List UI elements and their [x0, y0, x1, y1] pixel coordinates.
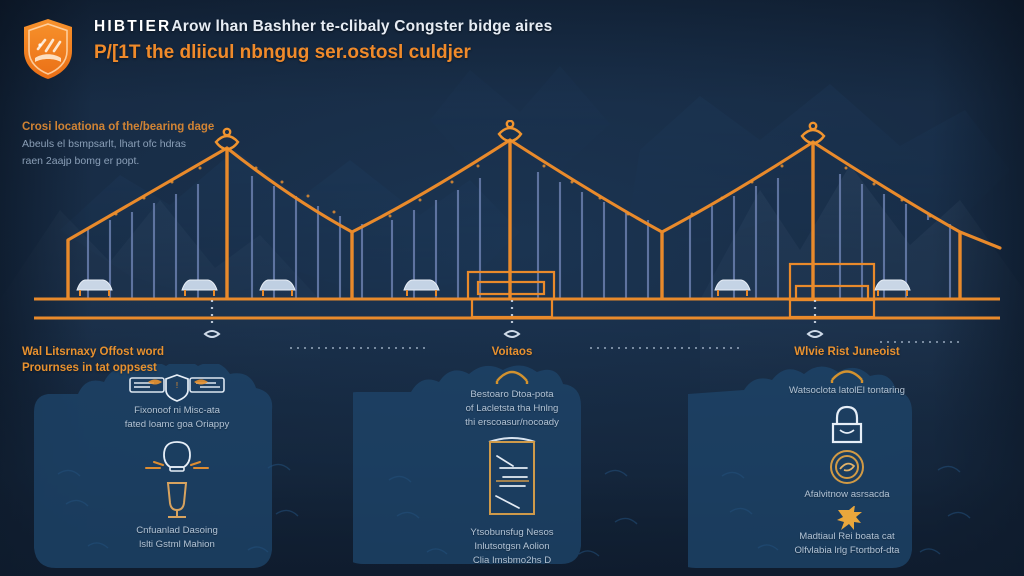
card-left-text-1: Fixonoof ni Misc-ata fated loamc goa Ori…	[18, 404, 336, 432]
badge-shield-icon: !	[166, 375, 188, 401]
card-right-icon-row-4	[688, 506, 1006, 532]
card-middle-text-2-line-2: Inlutsotgsn Aolion	[353, 540, 671, 554]
card-right-text-3-line-1: Madtiaul Rei boata cat	[688, 530, 1006, 544]
title-lead: HIBTIER	[94, 18, 171, 35]
card-right[interactable]: Wlvie Rist Juneoist Watsoclota latolEl t…	[688, 338, 1006, 576]
document-plan-icon	[489, 438, 535, 514]
card-right-icon-row-2	[688, 404, 1006, 450]
ticket-right-icon	[190, 378, 224, 392]
card-middle-body: Bestoaro Dtoa-pota of Lacletsta tha Hnln…	[353, 338, 671, 576]
connector-1-node	[205, 331, 219, 337]
suspender-cables-group	[88, 172, 950, 298]
card-left-icon-row-1: !	[18, 368, 336, 402]
arch-bridge-icon	[832, 372, 862, 384]
card-left-text-2: Cnfuanlad Dasoing lslti Gstml Mahion	[18, 524, 336, 552]
connector-3-node	[808, 331, 822, 337]
car-1	[77, 280, 112, 296]
car-4	[404, 280, 439, 296]
card-left[interactable]: Wal Litsrnaxy Offost word Prournses in t…	[18, 338, 336, 576]
cable-lights-group	[115, 165, 932, 218]
padlock-icon	[833, 407, 861, 442]
title-rest: Arow lhan Bashher te-clibaly Congster bi…	[171, 18, 552, 35]
card-right-body: Watsoclota latolEl tontaring	[688, 338, 1006, 576]
car-5	[715, 280, 750, 296]
car-6	[875, 280, 910, 296]
card-right-text-2: Afalvitnow asrsacda	[688, 488, 1006, 502]
card-left-icon-row-2	[18, 438, 336, 478]
card-middle-icon-row-2	[353, 434, 671, 522]
card-middle-text-2-line-3: Clia Imsbmo2hs D	[353, 554, 671, 568]
cards-row: Wal Litsrnaxy Offost word Prournses in t…	[0, 338, 1024, 576]
ticket-left-icon	[130, 378, 164, 392]
card-right-text-2-line-1: Afalvitnow asrsacda	[688, 488, 1006, 502]
card-right-text-3: Madtiaul Rei boata cat Olfvlabia lrlg Ft…	[688, 530, 1006, 558]
spark-burst-icon	[837, 506, 862, 530]
header: HIBTIERArow lhan Bashher te-clibaly Cong…	[22, 14, 984, 90]
main-cable-group	[68, 140, 1000, 248]
card-middle-text-1: Bestoaro Dtoa-pota of Lacletsta tha Hnln…	[353, 388, 671, 430]
svg-text:!: !	[176, 381, 178, 390]
card-middle-text-1-line-1: Bestoaro Dtoa-pota	[353, 388, 671, 402]
card-right-text-3-line-2: Olfvlabia lrlg Ftortbof-dta	[688, 544, 1006, 558]
card-middle-text-1-line-2: of Lacletsta tha Hnlng	[353, 402, 671, 416]
arch-bridge-icon	[497, 372, 527, 384]
suspension-bridge-diagram	[0, 120, 1024, 330]
card-middle[interactable]: Voitaos Bestoaro Dtoa-pota of Lacletsta …	[353, 338, 671, 576]
page-title: HIBTIERArow lhan Bashher te-clibaly Cong…	[94, 16, 984, 38]
bulb-idea-icon	[164, 442, 190, 471]
card-left-icon-row-3	[18, 480, 336, 524]
card-left-body: ! Fixonoof ni Misc-ata fated loamc goa O…	[18, 338, 336, 576]
trophy-cup-icon	[168, 483, 186, 517]
card-right-text-1-line-1: Watsoclota latolEl tontaring	[688, 384, 1006, 398]
card-right-icon-row-3	[688, 448, 1006, 490]
card-left-text-2-line-1: Cnfuanlad Dasoing	[18, 524, 336, 538]
card-right-icon-row-1	[688, 362, 1006, 384]
infographic-canvas: HIBTIERArow lhan Bashher te-clibaly Cong…	[0, 0, 1024, 576]
card-left-text-2-line-2: lslti Gstml Mahion	[18, 538, 336, 552]
card-middle-icon-row-1	[353, 362, 671, 386]
connector-2-node	[505, 331, 519, 337]
page-subtitle: P/[1T the dliicul nbngug ser.ostosl culd…	[94, 38, 984, 68]
card-middle-text-2-line-1: Ytsobunsfug Nesos	[353, 526, 671, 540]
card-middle-text-1-line-3: thi erscoasur/nocoady	[353, 416, 671, 430]
medal-seal-icon	[831, 451, 863, 483]
card-left-text-1-line-2: fated loamc goa Oriappy	[18, 418, 336, 432]
header-text-group: HIBTIERArow lhan Bashher te-clibaly Cong…	[94, 16, 984, 68]
shield-badge-icon	[22, 18, 74, 80]
card-right-text-1: Watsoclota latolEl tontaring	[688, 384, 1006, 398]
card-middle-text-2: Ytsobunsfug Nesos Inlutsotgsn Aolion Cli…	[353, 526, 671, 568]
car-3	[260, 280, 295, 296]
card-left-text-1-line-1: Fixonoof ni Misc-ata	[18, 404, 336, 418]
car-2	[182, 280, 217, 296]
